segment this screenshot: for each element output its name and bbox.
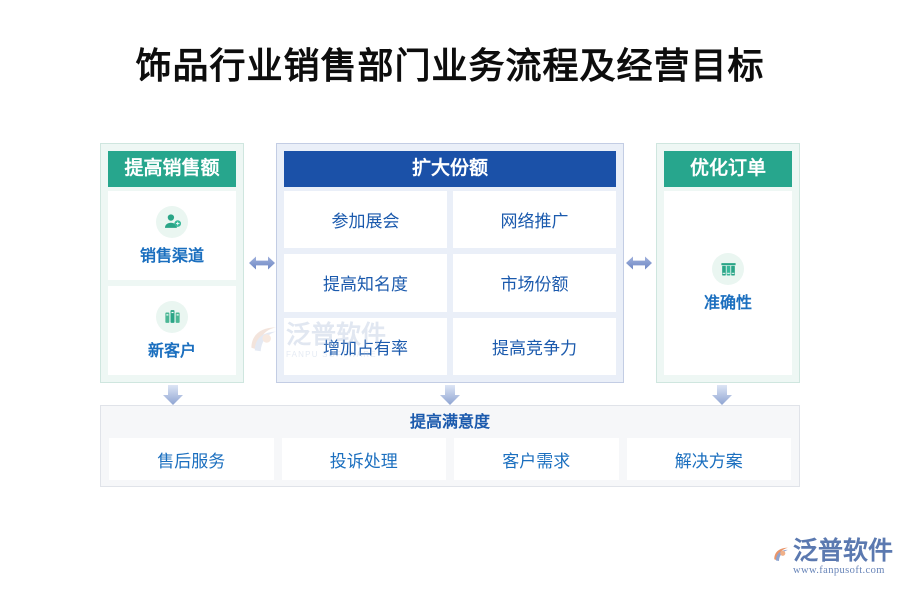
- cell-complaint-handling[interactable]: 投诉处理: [282, 438, 447, 480]
- page-title: 饰品行业销售部门业务流程及经营目标: [0, 44, 900, 88]
- column-body-expand-share: 参加展会 网络推广 提高知名度 市场份额 增加占有率 提高竞争力: [284, 187, 616, 375]
- column-increase-sales: 提高销售额 销售渠道: [100, 143, 244, 383]
- cell-sales-channel[interactable]: 销售渠道: [108, 191, 236, 280]
- cell-solution[interactable]: 解决方案: [627, 438, 792, 480]
- arrow-down-icon-left: [162, 385, 184, 405]
- column-optimize-orders: 优化订单 准确性: [656, 143, 800, 383]
- panel-row-improve-satisfaction: 售后服务 投诉处理 客户需求 解决方案: [109, 438, 791, 480]
- cell-accuracy[interactable]: 准确性: [664, 191, 792, 375]
- arrow-down-icon-center: [439, 385, 461, 405]
- column-body-optimize-orders: 准确性: [664, 187, 792, 375]
- cell-attend-expo[interactable]: 参加展会: [284, 191, 447, 248]
- column-header-expand-share: 扩大份额: [284, 151, 616, 187]
- ledger-icon: [712, 253, 744, 285]
- cell-online-promotion[interactable]: 网络推广: [453, 191, 616, 248]
- cell-market-share[interactable]: 市场份额: [453, 254, 616, 311]
- cell-label-sales-channel: 销售渠道: [140, 242, 204, 266]
- buildings-icon: [156, 301, 188, 333]
- column-header-optimize-orders: 优化订单: [664, 151, 792, 187]
- column-body-increase-sales: 销售渠道 新客户: [108, 187, 236, 375]
- column-expand-share: 扩大份额 参加展会 网络推广 提高知名度 市场份额 增加占有率 提高竞争力: [276, 143, 624, 383]
- objectives-band: 提高销售额 销售渠道: [100, 143, 800, 383]
- cell-label-new-customer: 新客户: [148, 337, 196, 361]
- double-arrow-horizontal-icon-left: [247, 248, 277, 278]
- cell-new-customer[interactable]: 新客户: [108, 286, 236, 375]
- panel-improve-satisfaction: 提高满意度 售后服务 投诉处理 客户需求 解决方案: [100, 405, 800, 487]
- column-header-increase-sales: 提高销售额: [108, 151, 236, 187]
- add-user-icon: [156, 206, 188, 238]
- cell-after-sales-service[interactable]: 售后服务: [109, 438, 274, 480]
- brand-logo-url: www.fanpusoft.com: [793, 564, 893, 577]
- panel-title-improve-satisfaction: 提高满意度: [109, 412, 791, 434]
- brand-logo: 泛普软件 www.fanpusoft.com: [773, 538, 893, 586]
- arrow-down-icon-right: [711, 385, 733, 405]
- brand-logo-name: 泛普软件: [793, 538, 893, 564]
- cell-customer-needs[interactable]: 客户需求: [454, 438, 619, 480]
- cell-increase-occupancy[interactable]: 增加占有率: [284, 318, 447, 375]
- cell-label-accuracy: 准确性: [704, 289, 752, 313]
- cell-raise-awareness[interactable]: 提高知名度: [284, 254, 447, 311]
- double-arrow-horizontal-icon-right: [624, 248, 654, 278]
- cell-raise-competitiveness[interactable]: 提高竞争力: [453, 318, 616, 375]
- diagram-canvas: 饰品行业销售部门业务流程及经营目标 提高销售额 销售: [0, 0, 900, 600]
